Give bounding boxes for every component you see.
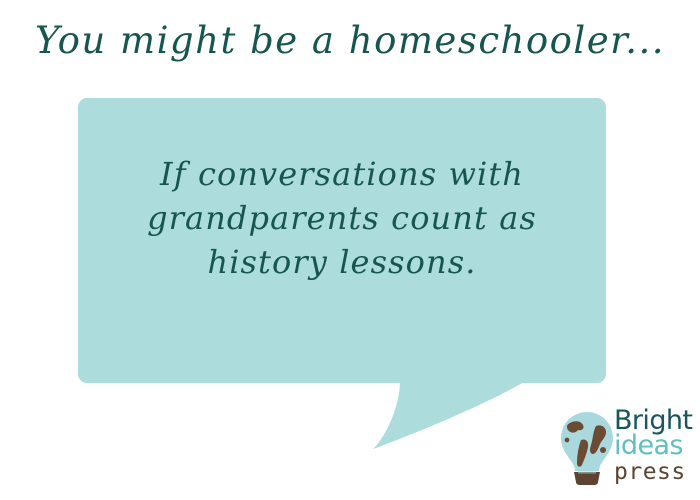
logo-word-ideas: ideas xyxy=(614,433,700,459)
logo-wordmark: Bright ideas press xyxy=(614,408,700,488)
bubble-text-line-2: grandparents count as xyxy=(92,196,592,240)
speech-bubble-text: If conversations with grandparents count… xyxy=(92,152,592,284)
brand-logo[interactable]: Bright ideas press xyxy=(556,408,700,490)
page-title: You might be a homeschooler... xyxy=(0,22,700,59)
logo-word-press: press xyxy=(614,461,700,484)
lightbulb-globe-icon xyxy=(556,410,618,486)
bubble-text-line-1: If conversations with xyxy=(92,152,592,196)
speech-bubble-tail xyxy=(373,382,524,449)
bubble-text-line-3: history lessons. xyxy=(92,240,592,284)
poster-canvas: You might be a homeschooler... If conver… xyxy=(0,0,700,500)
